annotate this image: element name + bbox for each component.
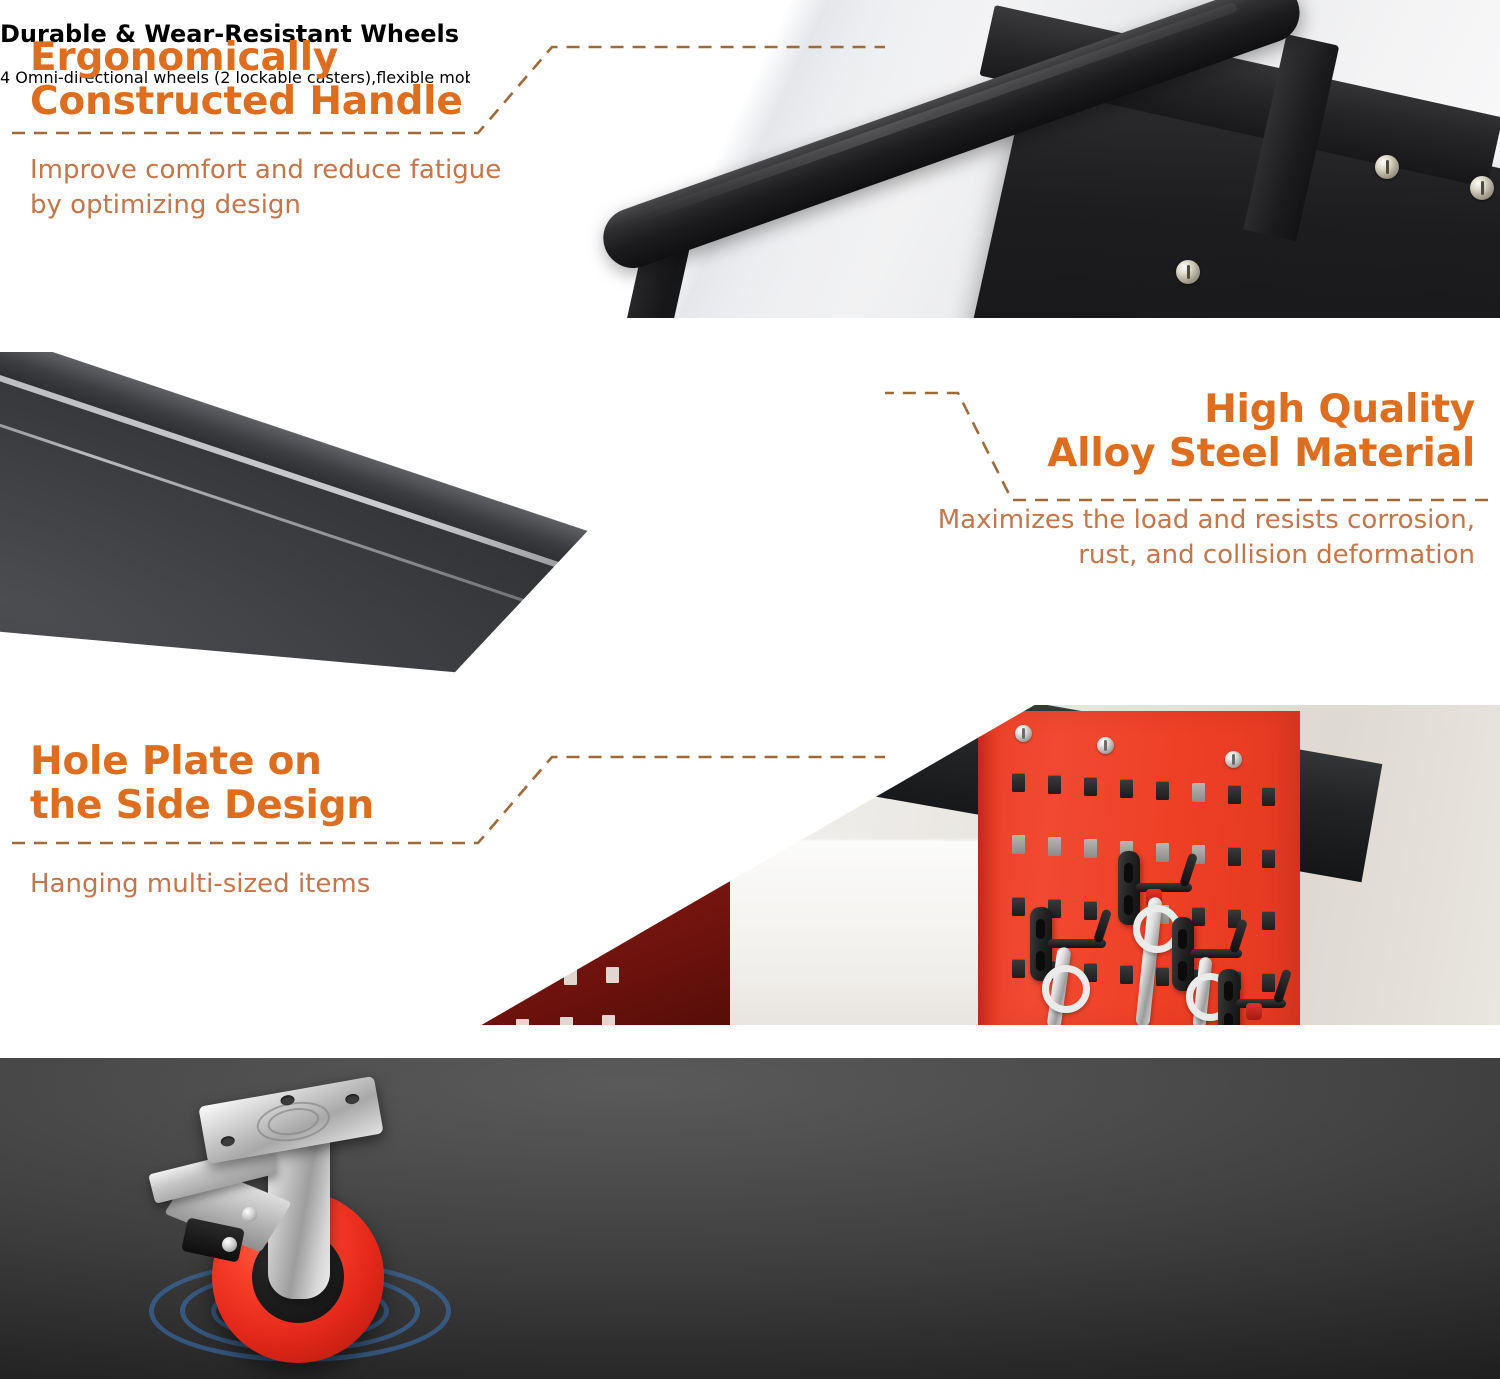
feature-title: Ergonomically Constructed Handle: [30, 36, 570, 123]
hole-plate-photo: [480, 705, 1500, 1025]
screw-icon: [1176, 260, 1200, 284]
wrench-grip: [1246, 1003, 1262, 1020]
screw-icon: [1470, 176, 1494, 200]
wrench-ring: [1042, 965, 1090, 1013]
feature-title: Hole Plate on the Side Design: [30, 740, 500, 827]
rivet-icon: [242, 1207, 257, 1222]
pegboard-left-edge: [978, 715, 1002, 1025]
feature-title: High Quality Alloy Steel Material: [900, 388, 1475, 475]
feature-text-handle: Ergonomically Constructed Handle Improve…: [30, 36, 570, 223]
screw-icon: [1225, 751, 1242, 768]
bolt-hole: [345, 1093, 361, 1105]
handle-photo: [470, 0, 1500, 318]
infographic-page: Ergonomically Constructed Handle Improve…: [0, 0, 1500, 1379]
caster-wheel-photo: [140, 1075, 460, 1365]
feature-subtitle: Hanging multi-sized items: [30, 867, 500, 902]
red-pegboard-panel: [1000, 711, 1300, 1025]
screw-icon: [1015, 725, 1032, 742]
feature-subtitle: Maximizes the load and resists corrosion…: [900, 503, 1475, 572]
hook-tip: [1179, 852, 1198, 887]
hook-tip: [1273, 968, 1292, 1003]
feature-subtitle: Improve comfort and reduce fatigue by op…: [30, 153, 570, 222]
alloy-steel-photo: [0, 352, 1000, 674]
screw-icon: [1375, 155, 1399, 179]
screw-icon: [1097, 737, 1114, 754]
rivet-icon: [222, 1237, 237, 1252]
feature-text-alloy-steel: High Quality Alloy Steel Material Maximi…: [900, 388, 1475, 573]
bolt-hole: [220, 1135, 236, 1147]
feature-text-hole-plate: Hole Plate on the Side Design Hanging mu…: [30, 740, 500, 902]
pegboard-hook: [1218, 969, 1240, 1025]
